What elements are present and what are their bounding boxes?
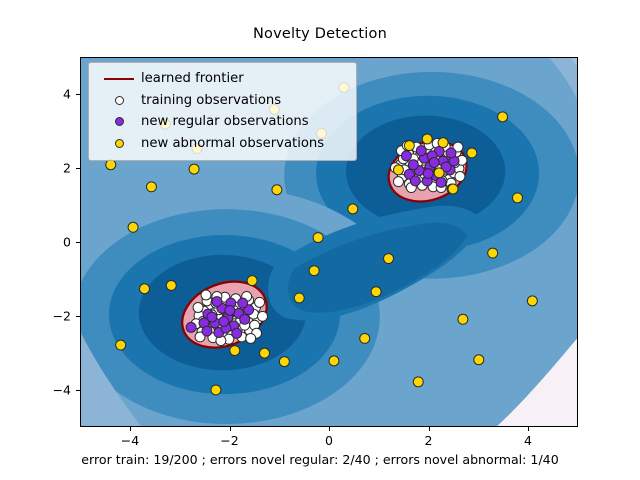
data-point bbox=[189, 164, 199, 174]
xtick-label: −4 bbox=[121, 433, 139, 448]
legend: learned frontier training observations n… bbox=[88, 62, 357, 161]
data-point bbox=[240, 314, 250, 324]
data-point bbox=[202, 326, 212, 336]
page-title: Novelty Detection bbox=[0, 26, 640, 42]
data-point bbox=[393, 177, 403, 187]
data-point bbox=[513, 193, 523, 203]
data-point bbox=[255, 297, 265, 307]
ytick-mark bbox=[76, 168, 80, 169]
data-point bbox=[393, 165, 403, 175]
data-point bbox=[294, 293, 304, 303]
ytick-label: 2 bbox=[31, 161, 71, 176]
data-point bbox=[422, 134, 432, 144]
data-point bbox=[212, 297, 222, 307]
data-point bbox=[247, 276, 257, 286]
ytick-label: 0 bbox=[31, 235, 71, 250]
data-point bbox=[329, 356, 339, 366]
xtick-label: −2 bbox=[220, 433, 238, 448]
xtick-mark bbox=[429, 427, 430, 431]
data-point bbox=[348, 204, 358, 214]
data-point bbox=[384, 254, 394, 264]
data-point bbox=[211, 385, 221, 395]
data-point bbox=[474, 355, 484, 365]
data-point bbox=[258, 311, 268, 321]
data-point bbox=[232, 328, 242, 338]
legend-item-learned-frontier: learned frontier bbox=[97, 68, 348, 90]
data-point bbox=[140, 284, 150, 294]
xtick-mark bbox=[329, 427, 330, 431]
data-point bbox=[371, 287, 381, 297]
data-point bbox=[106, 160, 116, 170]
data-point bbox=[225, 305, 235, 315]
data-point bbox=[404, 141, 414, 151]
data-point bbox=[446, 148, 456, 158]
data-point bbox=[219, 317, 229, 327]
legend-label: new regular observations bbox=[141, 114, 309, 129]
xtick-label: 2 bbox=[425, 433, 433, 448]
data-point bbox=[238, 298, 248, 308]
ytick-mark bbox=[76, 94, 80, 95]
legend-label: learned frontier bbox=[141, 71, 244, 86]
ytick-label: −4 bbox=[31, 383, 71, 398]
data-point bbox=[416, 146, 426, 156]
legend-circle-icon bbox=[97, 139, 141, 148]
data-point bbox=[166, 280, 176, 290]
data-point bbox=[201, 290, 211, 300]
data-point bbox=[413, 377, 423, 387]
data-point bbox=[313, 233, 323, 243]
xtick-mark bbox=[230, 427, 231, 431]
legend-line-icon bbox=[97, 78, 141, 80]
data-point bbox=[448, 184, 458, 194]
legend-item-new-abnormal-observations: new abnormal observations bbox=[97, 133, 348, 155]
data-point bbox=[436, 177, 446, 187]
data-point bbox=[488, 248, 498, 258]
legend-item-training-observations: training observations bbox=[97, 90, 348, 112]
data-point bbox=[423, 169, 433, 179]
legend-item-new-regular-observations: new regular observations bbox=[97, 111, 348, 133]
data-point bbox=[401, 151, 411, 161]
data-point bbox=[186, 322, 196, 332]
legend-label: new abnormal observations bbox=[141, 136, 324, 151]
data-point bbox=[193, 303, 203, 313]
ytick-label: 4 bbox=[31, 87, 71, 102]
legend-label: training observations bbox=[141, 93, 281, 108]
xtick-mark bbox=[130, 427, 131, 431]
legend-circle-icon bbox=[97, 117, 141, 126]
data-point bbox=[246, 333, 256, 343]
xtick-mark bbox=[528, 427, 529, 431]
data-point bbox=[429, 158, 439, 168]
ytick-mark bbox=[76, 316, 80, 317]
figure-canvas: Novelty Detection bbox=[0, 0, 640, 480]
ytick-mark bbox=[76, 390, 80, 391]
data-point bbox=[116, 340, 126, 350]
data-point bbox=[467, 148, 477, 158]
legend-circle-icon bbox=[97, 96, 141, 105]
ytick-label: −2 bbox=[31, 309, 71, 324]
data-point bbox=[230, 346, 240, 356]
data-point bbox=[146, 182, 156, 192]
data-point bbox=[410, 176, 420, 186]
data-point bbox=[128, 222, 138, 232]
data-point bbox=[408, 160, 418, 170]
data-point bbox=[309, 266, 319, 276]
x-axis-label: error train: 19/200 ; errors novel regul… bbox=[0, 452, 640, 467]
data-point bbox=[458, 314, 468, 324]
data-point bbox=[434, 168, 444, 178]
data-point bbox=[527, 296, 537, 306]
xtick-label: 4 bbox=[524, 433, 532, 448]
data-point bbox=[272, 185, 282, 195]
data-point bbox=[360, 333, 370, 343]
data-point bbox=[260, 348, 270, 358]
data-point bbox=[455, 172, 465, 182]
data-point bbox=[498, 112, 508, 122]
data-point bbox=[438, 138, 448, 148]
xtick-label: 0 bbox=[325, 433, 333, 448]
ytick-mark bbox=[76, 242, 80, 243]
data-point bbox=[279, 357, 289, 367]
